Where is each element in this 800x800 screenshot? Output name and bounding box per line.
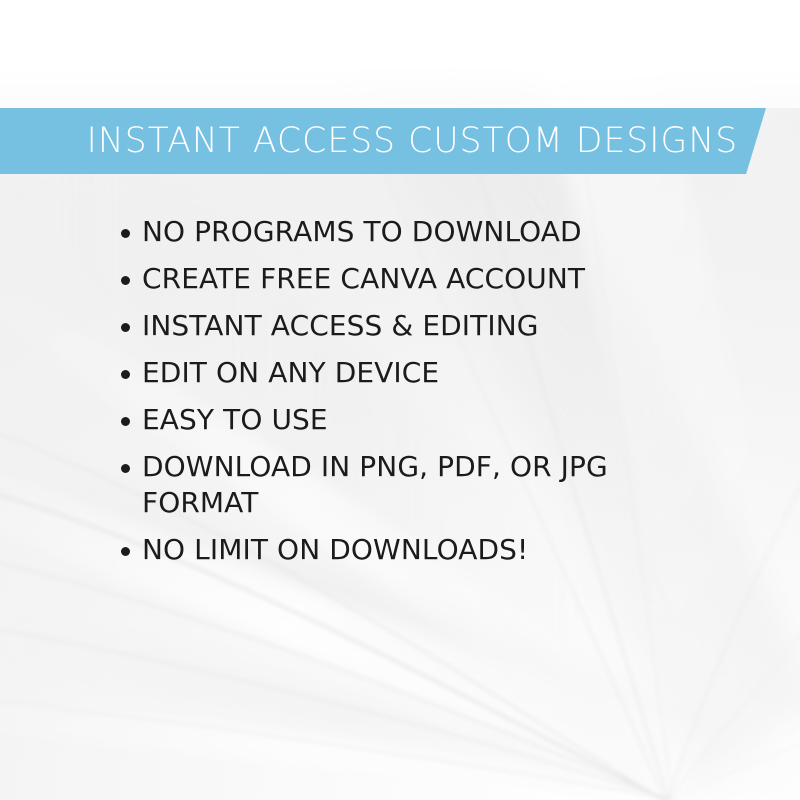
- list-item-label: INSTANT ACCESS & EDITING: [142, 309, 539, 342]
- banner: INSTANT ACCESS CUSTOM DESIGNS: [0, 108, 766, 174]
- list-item: DOWNLOAD IN PNG, PDF, OR JPG FORMAT: [118, 449, 632, 521]
- list-item: INSTANT ACCESS & EDITING: [118, 308, 632, 344]
- list-item: NO PROGRAMS TO DOWNLOAD: [118, 214, 632, 250]
- bullet-dot-icon: [121, 229, 130, 238]
- bullet-dot-icon: [121, 323, 130, 332]
- promo-graphic: INSTANT ACCESS CUSTOM DESIGNS NO PROGRAM…: [0, 0, 800, 800]
- list-item-label: EDIT ON ANY DEVICE: [142, 356, 439, 389]
- top-white-wash: [0, 0, 800, 108]
- bullet-dot-icon: [121, 370, 130, 379]
- list-item-label: NO LIMIT ON DOWNLOADS!: [142, 533, 528, 566]
- bullet-dot-icon: [121, 276, 130, 285]
- bullet-dot-icon: [121, 464, 130, 473]
- list-item-label: CREATE FREE CANVA ACCOUNT: [142, 262, 585, 295]
- bullet-dot-icon: [121, 417, 130, 426]
- list-item: EASY TO USE: [118, 402, 632, 438]
- list-item-label: EASY TO USE: [142, 403, 328, 436]
- page-title: INSTANT ACCESS CUSTOM DESIGNS: [0, 124, 738, 159]
- list-item: CREATE FREE CANVA ACCOUNT: [118, 261, 632, 297]
- list-item: EDIT ON ANY DEVICE: [118, 355, 632, 391]
- list-item-label: NO PROGRAMS TO DOWNLOAD: [142, 215, 582, 248]
- bullet-dot-icon: [121, 547, 130, 556]
- list-item-label: DOWNLOAD IN PNG, PDF, OR JPG FORMAT: [142, 450, 608, 519]
- list-item: NO LIMIT ON DOWNLOADS!: [118, 532, 632, 568]
- feature-list: NO PROGRAMS TO DOWNLOAD CREATE FREE CANV…: [118, 214, 738, 568]
